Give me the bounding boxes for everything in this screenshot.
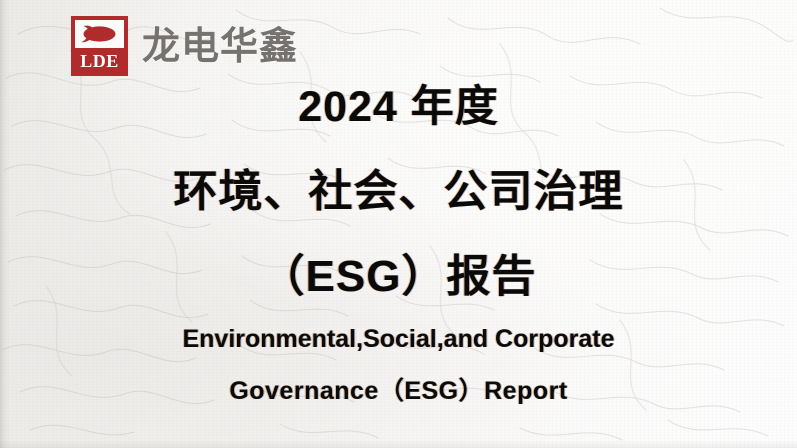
bottom-edge-shadow	[0, 440, 797, 448]
lde-emblem-icon	[75, 20, 124, 48]
lde-wordmark: LDE	[80, 48, 119, 76]
lde-logo: LDE	[71, 16, 128, 76]
report-type-title: （ESG）报告	[0, 255, 797, 299]
brand-lockup: LDE 龙电华鑫	[71, 16, 298, 76]
esg-report-cover-slide: LDE 龙电华鑫 2024 年度 环境、社会、公司治理 （ESG）报告 Envi…	[0, 0, 797, 448]
report-subtitle-line-1: Environmental,Social,and Corporate	[0, 327, 797, 352]
company-name: 龙电华鑫	[142, 28, 298, 66]
report-topic-title: 环境、社会、公司治理	[0, 170, 797, 214]
report-year-title: 2024 年度	[0, 86, 797, 129]
report-subtitle-line-2: Governance（ESG）Report	[0, 379, 797, 404]
title-block: 2024 年度 环境、社会、公司治理 （ESG）报告 Environmental…	[0, 86, 797, 404]
